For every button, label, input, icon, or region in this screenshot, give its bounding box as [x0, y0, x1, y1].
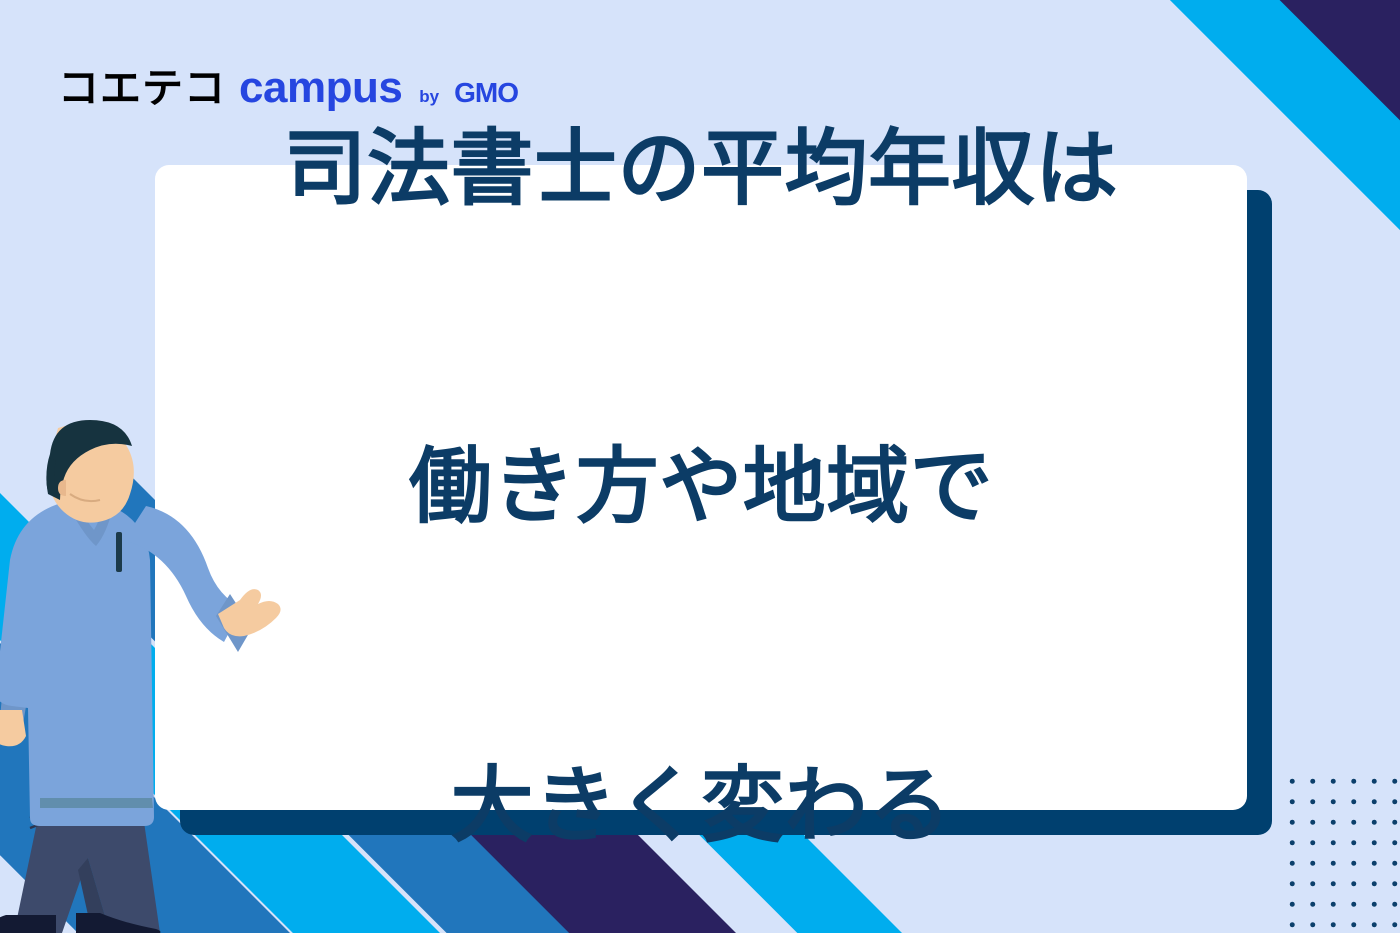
page-title: 司法書士の平均年収は 働き方や地域で 大きく変わる [284, 0, 1119, 933]
person-shoe-right [76, 913, 161, 933]
person-shirt [0, 504, 154, 826]
person-collar [66, 498, 114, 546]
person-knee-crease-left [30, 808, 56, 828]
logo-japanese-wordmark: コエテコ [58, 68, 226, 109]
headline-card: 司法書士の平均年収は 働き方や地域で 大きく変わる [155, 165, 1247, 810]
person-pocket-pen [116, 532, 122, 572]
person-head [48, 423, 134, 522]
headline-line-3: 大きく変わる [284, 753, 1119, 859]
person-neck [70, 474, 110, 521]
person-sideburn [46, 458, 58, 498]
headline-line-2: 働き方や地域で [284, 434, 1119, 540]
banner-canvas: コエテコ campus by GMO 司法書士の平均年収は 働き方や地域で 大き… [0, 0, 1400, 933]
person-knee-crease-right [110, 802, 132, 818]
person-ear [58, 480, 66, 496]
person-trousers-shade [78, 858, 110, 933]
person-shoe-left [0, 915, 56, 933]
person-back-arm [0, 546, 46, 730]
person-hair [46, 420, 132, 500]
person-shirt-hem [40, 798, 153, 808]
person-back-hand [0, 710, 26, 746]
headline-line-1: 司法書士の平均年収は [284, 116, 1119, 222]
person-jawline [70, 494, 100, 501]
dot-grid-decoration [1276, 765, 1400, 933]
person-trousers [14, 808, 160, 933]
